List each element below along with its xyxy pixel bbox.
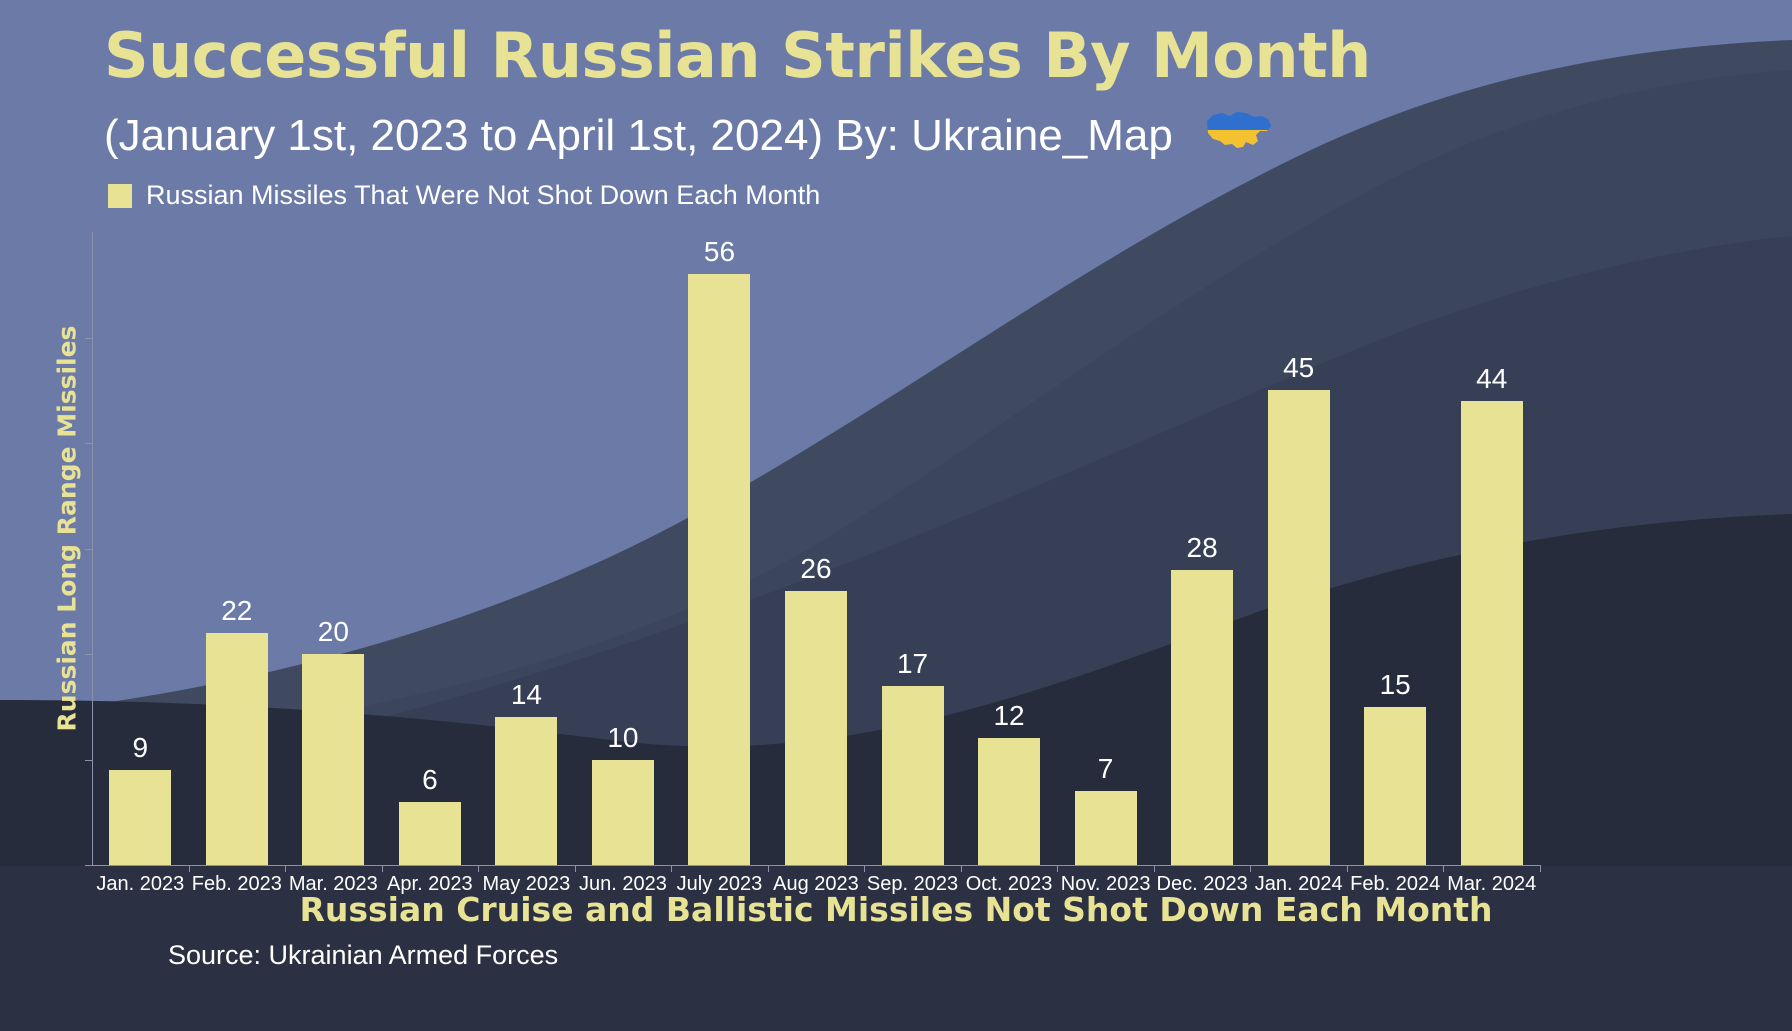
bar-group: 15Feb. 2024 <box>1347 232 1444 865</box>
bar-group: 26Aug 2023 <box>768 232 865 865</box>
y-axis-tick <box>85 654 92 655</box>
bar-group: 6Apr. 2023 <box>382 232 479 865</box>
x-axis-tick <box>1347 865 1348 872</box>
plot-inner: 9Jan. 202322Feb. 202320Mar. 20236Apr. 20… <box>92 232 1540 865</box>
bar[interactable] <box>882 686 944 865</box>
bar-value-label: 14 <box>511 679 542 711</box>
bar-group: 22Feb. 2023 <box>189 232 286 865</box>
y-axis-tick <box>85 865 92 866</box>
bar[interactable] <box>1171 570 1233 865</box>
source-note: Source: Ukrainian Armed Forces <box>168 940 558 971</box>
x-axis-tick <box>285 865 286 872</box>
bar[interactable] <box>206 633 268 865</box>
bar-group: 45Jan. 2024 <box>1250 232 1347 865</box>
x-axis-tick <box>1250 865 1251 872</box>
x-axis-tick <box>1057 865 1058 872</box>
bar-value-label: 10 <box>607 722 638 754</box>
bar-group: 28Dec. 2023 <box>1154 232 1251 865</box>
x-axis-tick <box>1443 865 1444 872</box>
bar[interactable] <box>1075 791 1137 865</box>
x-axis-tick <box>189 865 190 872</box>
bar[interactable] <box>688 274 750 865</box>
bar-group: 44Mar. 2024 <box>1443 232 1540 865</box>
bar[interactable] <box>302 654 364 865</box>
bar[interactable] <box>495 717 557 865</box>
subtitle-text: (January 1st, 2023 to April 1st, 2024) B… <box>104 111 1173 160</box>
chart-legend[interactable]: Russian Missiles That Were Not Shot Down… <box>108 180 820 211</box>
bar-group: 7Nov. 2023 <box>1057 232 1154 865</box>
legend-swatch-icon <box>108 184 132 208</box>
bar-value-label: 12 <box>993 700 1024 732</box>
x-axis-tick <box>1540 865 1541 872</box>
bar-value-label: 20 <box>318 616 349 648</box>
bar[interactable] <box>399 802 461 865</box>
y-axis-tick <box>85 549 92 550</box>
bar-value-label: 6 <box>422 764 438 796</box>
bar-group: 56July 2023 <box>671 232 768 865</box>
y-axis-title: Russian Long Range Missiles <box>53 249 82 809</box>
x-axis-tick <box>1154 865 1155 872</box>
bar[interactable] <box>109 770 171 865</box>
bar[interactable] <box>592 760 654 866</box>
x-axis-title: Russian Cruise and Ballistic Missiles No… <box>0 890 1792 929</box>
ukraine-map-flag-icon <box>1199 104 1277 170</box>
bar-value-label: 45 <box>1283 352 1314 384</box>
x-axis-tick <box>382 865 383 872</box>
x-axis-tick <box>478 865 479 872</box>
y-axis-tick <box>85 760 92 761</box>
bar-value-label: 15 <box>1380 669 1411 701</box>
chart-canvas: Successful Russian Strikes By Month (Jan… <box>0 0 1792 1031</box>
page-title: Successful Russian Strikes By Month <box>104 20 1371 92</box>
bar-group: 14May 2023 <box>478 232 575 865</box>
bar-value-label: 56 <box>704 236 735 268</box>
bar[interactable] <box>978 738 1040 865</box>
x-axis-tick <box>864 865 865 872</box>
x-axis-tick <box>961 865 962 872</box>
x-axis-tick <box>671 865 672 872</box>
bar-value-label: 9 <box>132 732 148 764</box>
x-axis-tick <box>768 865 769 872</box>
bar-group: 12Oct. 2023 <box>961 232 1058 865</box>
bar-value-label: 44 <box>1476 363 1507 395</box>
bar[interactable] <box>1461 401 1523 865</box>
bar-group: 17Sep. 2023 <box>864 232 961 865</box>
bar-value-label: 22 <box>221 595 252 627</box>
y-axis-tick <box>85 338 92 339</box>
bar-group: 9Jan. 2023 <box>92 232 189 865</box>
bar[interactable] <box>1364 707 1426 865</box>
bar-value-label: 17 <box>897 648 928 680</box>
bar[interactable] <box>1268 390 1330 865</box>
x-axis-tick <box>575 865 576 872</box>
legend-item-label: Russian Missiles That Were Not Shot Down… <box>146 180 820 211</box>
bar-value-label: 7 <box>1098 753 1114 785</box>
bar-group: 20Mar. 2023 <box>285 232 382 865</box>
page-subtitle: (January 1st, 2023 to April 1st, 2024) B… <box>104 104 1277 170</box>
y-axis-tick <box>85 443 92 444</box>
bar[interactable] <box>785 591 847 865</box>
bar-group: 10Jun. 2023 <box>575 232 672 865</box>
x-axis-line <box>92 865 1540 866</box>
bar-value-label: 26 <box>800 553 831 585</box>
bar-value-label: 28 <box>1187 532 1218 564</box>
plot-area: 9Jan. 202322Feb. 202320Mar. 20236Apr. 20… <box>92 232 1540 865</box>
